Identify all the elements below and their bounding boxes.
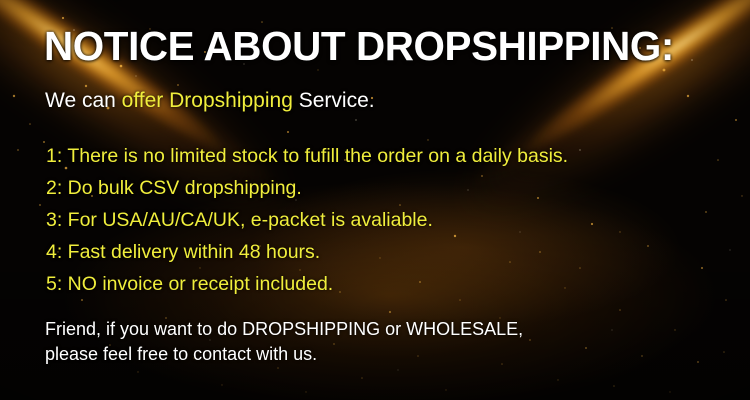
footer-line-2: please feel free to contact with us.: [45, 342, 523, 367]
subtitle-highlight: offer Dropshipping: [122, 89, 293, 112]
footer-note: Friend, if you want to do DROPSHIPPING o…: [45, 317, 523, 367]
list-item: 1: There is no limited stock to fufill t…: [46, 140, 568, 172]
list-item: 5: NO invoice or receipt included.: [46, 268, 568, 300]
subtitle-after: Service.: [293, 89, 375, 112]
dropshipping-notice-banner: NOTICE ABOUT DROPSHIPPING: We can offer …: [0, 0, 750, 400]
list-item: 4: Fast delivery within 48 hours.: [46, 236, 568, 268]
page-title: NOTICE ABOUT DROPSHIPPING:: [44, 26, 674, 67]
subtitle-before: We can: [45, 89, 122, 112]
policy-list: 1: There is no limited stock to fufill t…: [46, 140, 568, 300]
footer-line-1: Friend, if you want to do DROPSHIPPING o…: [45, 317, 523, 342]
list-item: 3: For USA/AU/CA/UK, e-packet is avaliab…: [46, 204, 568, 236]
subtitle: We can offer Dropshipping Service.: [45, 88, 375, 114]
banner-content: NOTICE ABOUT DROPSHIPPING: We can offer …: [0, 0, 750, 400]
list-item: 2: Do bulk CSV dropshipping.: [46, 172, 568, 204]
